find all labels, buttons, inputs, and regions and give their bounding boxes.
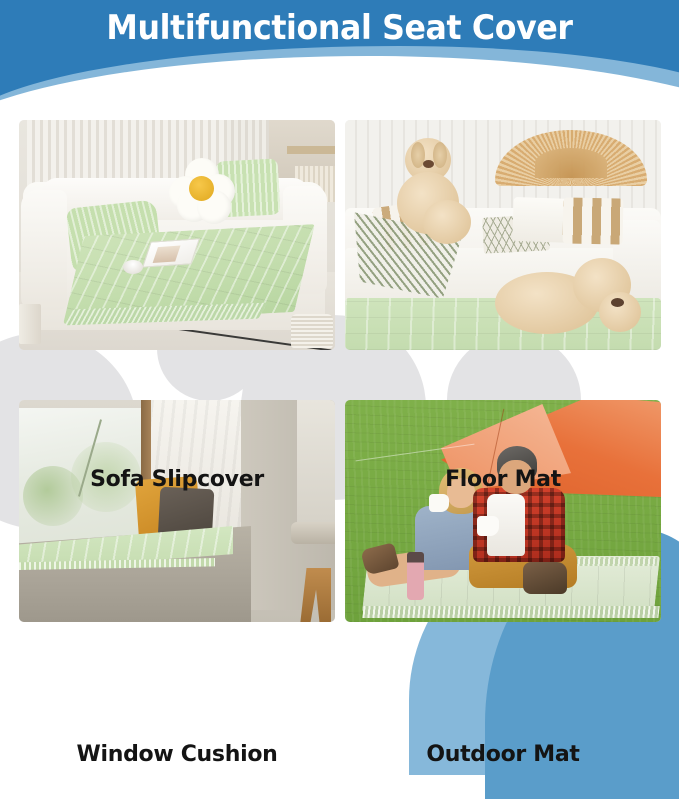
caption-sofa-slipcover: Sofa Slipcover — [19, 467, 335, 492]
man-boot — [523, 562, 567, 594]
side-table-top — [291, 522, 335, 544]
white-cup — [123, 260, 143, 274]
woven-basket — [291, 314, 333, 348]
caption-window-cushion: Window Cushion — [19, 742, 335, 767]
daisy-cushion — [169, 158, 235, 220]
outdoor-mat-fringe — [362, 606, 659, 618]
pink-thermos — [407, 552, 424, 600]
photo-window-cushion — [19, 400, 335, 622]
caption-outdoor-mat: Outdoor Mat — [345, 742, 661, 767]
grid-cell-floor-mat — [345, 120, 661, 350]
header-banner: Multifunctional Seat Cover — [0, 0, 679, 112]
page-title: Multifunctional Seat Cover — [24, 8, 655, 48]
daisy-center — [189, 176, 214, 201]
wall-shelf — [287, 146, 335, 154]
grid-cell-window-cushion — [19, 400, 335, 622]
side-object — [19, 304, 41, 344]
dog-sitting-on-sofa — [397, 138, 471, 248]
wall-right-lit — [297, 400, 335, 524]
open-book — [142, 238, 200, 267]
sofa-arm-left — [21, 190, 67, 310]
dog-lying-on-mat — [495, 258, 645, 342]
caption-floor-mat: Floor Mat — [345, 467, 661, 492]
grid-cell-outdoor-mat — [345, 400, 661, 622]
photo-outdoor-mat — [345, 400, 661, 622]
photo-floor-mat — [345, 120, 661, 350]
striped-pillow-right — [563, 197, 624, 244]
grid-cell-sofa-slipcover — [19, 120, 335, 350]
woman-mug — [429, 494, 449, 512]
man-mug — [477, 516, 499, 536]
photo-sofa-slipcover — [19, 120, 335, 350]
